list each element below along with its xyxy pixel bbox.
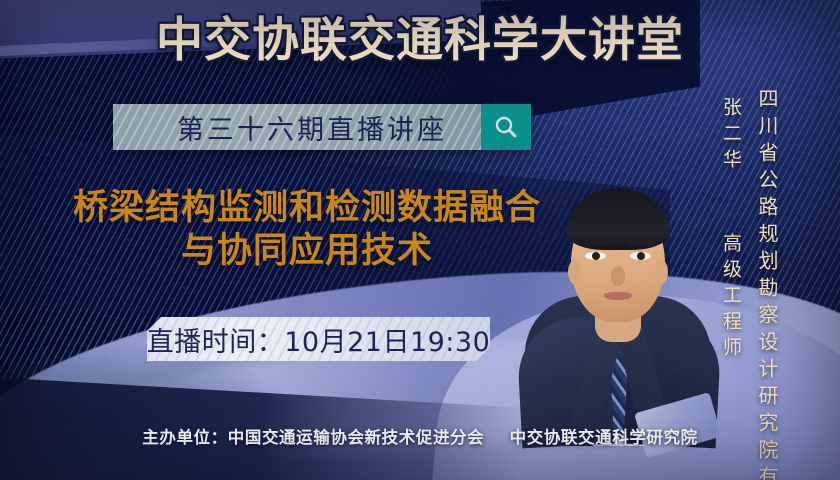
organizers-footer: 主办单位：中国交通运输协会新技术促进分会 中交协联交通科学研究院 (0, 424, 840, 448)
speaker-portrait (523, 106, 713, 446)
episode-banner: 第三十六期直播讲座 (113, 104, 531, 150)
portrait-mouth (604, 292, 632, 300)
broadcast-time-badge: 直播时间：10月21日19:30 (147, 317, 490, 361)
episode-label: 第三十六期直播讲座 (147, 108, 447, 147)
search-icon-box[interactable] (481, 104, 531, 150)
episode-banner-bar: 第三十六期直播讲座 (113, 104, 481, 150)
lecture-topic: 桥梁结构监测和检测数据融合 与协同应用技术 (24, 187, 590, 272)
broadcast-time-label: 直播时间：10月21日19:30 (147, 320, 490, 359)
speaker-name-title: 张二华 高级工程师 (718, 97, 745, 363)
lecture-topic-line2: 与协同应用技术 (24, 230, 590, 273)
speaker-organization: 四川省公路规划勘察设计研究院有限公司 (753, 88, 782, 480)
poster-canvas: 中交协联交通科学大讲堂 第三十六期直播讲座 桥梁结构监测和检测数据融合 与协同应… (0, 0, 840, 480)
search-icon (493, 114, 519, 140)
lecture-topic-line1: 桥梁结构监测和检测数据融合 (73, 188, 541, 228)
portrait-ear-right (655, 260, 668, 284)
portrait-nose (611, 266, 625, 286)
page-title: 中交协联交通科学大讲堂 (0, 17, 840, 64)
portrait-eye-right (630, 252, 651, 260)
